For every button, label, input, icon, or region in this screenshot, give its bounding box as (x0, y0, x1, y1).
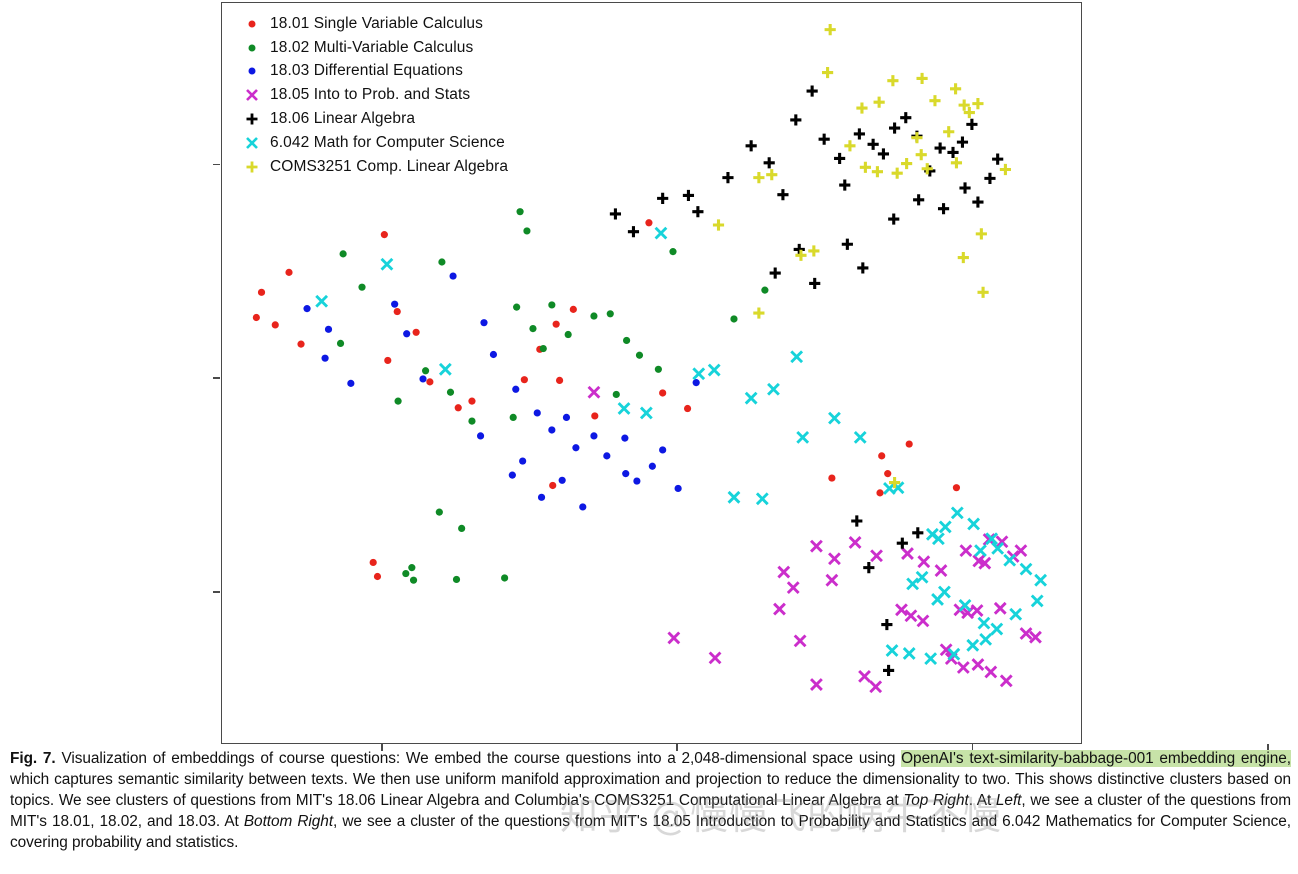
data-point (844, 140, 855, 151)
data-point (501, 574, 508, 581)
plot-legend: 18.01 Single Variable Calculus18.02 Mult… (234, 12, 508, 179)
data-point (878, 148, 889, 159)
caption-segment-0: Visualization of embeddings of course qu… (56, 750, 901, 767)
data-point (453, 576, 460, 583)
data-point (827, 575, 838, 586)
plus-marker-icon (234, 158, 270, 176)
data-point (811, 541, 822, 552)
data-point (883, 665, 894, 676)
data-point (272, 321, 279, 328)
data-point (884, 470, 891, 477)
data-point (863, 562, 874, 573)
data-point (917, 572, 928, 583)
data-point (413, 329, 420, 336)
figure-label: Fig. 7. (10, 750, 56, 767)
data-point (881, 619, 892, 630)
data-point (935, 142, 946, 153)
figure-caption: Fig. 7. Visualization of embeddings of c… (10, 748, 1291, 853)
data-point (958, 252, 969, 263)
data-point (358, 284, 365, 291)
data-point (906, 440, 913, 447)
data-point (519, 457, 526, 464)
data-point (829, 553, 840, 564)
data-point (659, 446, 666, 453)
legend-item-0[interactable]: 18.01 Single Variable Calculus (234, 12, 508, 36)
data-point (746, 140, 757, 151)
data-point (1001, 675, 1012, 686)
data-point (842, 239, 853, 250)
data-point (764, 157, 775, 168)
data-point (553, 321, 560, 328)
data-point (859, 671, 870, 682)
data-point (607, 310, 614, 317)
data-point (951, 157, 962, 168)
data-point (912, 527, 923, 538)
figure-caption-body: Visualization of embeddings of course qu… (10, 750, 1291, 851)
data-point (961, 545, 972, 556)
data-point (656, 228, 667, 239)
data-point (939, 587, 950, 598)
data-point (382, 259, 393, 270)
data-point (768, 384, 779, 395)
data-point (770, 268, 781, 279)
data-point (746, 393, 757, 404)
y-axis-tick-0 (213, 591, 220, 592)
data-point (422, 367, 429, 374)
data-point (622, 470, 629, 477)
data-point (856, 102, 867, 113)
data-point (839, 179, 850, 190)
data-point (591, 412, 598, 419)
caption-segment-4: . At (969, 792, 996, 809)
data-point (825, 24, 836, 35)
data-point (458, 525, 465, 532)
data-point (436, 509, 443, 516)
data-point (449, 272, 456, 279)
y-axis-tick-1 (213, 377, 220, 378)
data-point (340, 250, 347, 257)
data-point (570, 306, 577, 313)
data-point (876, 489, 883, 496)
x-marker-icon (234, 134, 270, 152)
data-point (529, 325, 536, 332)
data-point (381, 231, 388, 238)
data-point (868, 139, 879, 150)
data-point (952, 507, 963, 518)
data-point (521, 376, 528, 383)
legend-label-4: 18.06 Linear Algebra (270, 110, 415, 128)
data-point (419, 375, 426, 382)
data-point (953, 484, 960, 491)
circle-marker-icon (234, 39, 270, 57)
data-point (889, 122, 900, 133)
data-point (985, 667, 996, 678)
data-point (722, 172, 733, 183)
data-point (967, 640, 978, 651)
data-point (753, 172, 764, 183)
data-point (641, 408, 652, 419)
data-point (538, 494, 545, 501)
data-point (947, 147, 958, 158)
data-point (610, 208, 621, 219)
data-point (509, 472, 516, 479)
data-point (613, 391, 620, 398)
data-point (995, 603, 1006, 614)
data-point (943, 126, 954, 137)
data-point (753, 307, 764, 318)
data-point (1032, 596, 1043, 607)
data-point (1035, 575, 1046, 586)
data-point (913, 194, 924, 205)
data-point (410, 577, 417, 584)
data-point (984, 173, 995, 184)
data-point (374, 573, 381, 580)
data-point (878, 452, 885, 459)
data-point (888, 213, 899, 224)
legend-item-2[interactable]: 18.03 Differential Equations (234, 60, 508, 84)
data-point (966, 119, 977, 130)
data-point (972, 98, 983, 109)
data-point (303, 305, 310, 312)
data-point (887, 75, 898, 86)
data-point (807, 85, 818, 96)
data-point (925, 653, 936, 664)
data-point (590, 312, 597, 319)
data-point (563, 414, 570, 421)
data-point (408, 564, 415, 571)
data-point (907, 579, 918, 590)
data-point (590, 432, 597, 439)
data-point (940, 522, 951, 533)
data-point (513, 304, 520, 311)
data-point (549, 482, 556, 489)
data-point (933, 533, 944, 544)
legend-item-1[interactable]: 18.02 Multi-Variable Calculus (234, 36, 508, 60)
data-point (777, 189, 788, 200)
x-marker-icon (234, 86, 270, 104)
circle-marker-icon (234, 62, 270, 80)
data-point (929, 95, 940, 106)
data-point (523, 227, 530, 234)
data-point (683, 190, 694, 201)
data-point (325, 326, 332, 333)
data-point (854, 128, 865, 139)
data-point (871, 550, 882, 561)
data-point (1000, 164, 1011, 175)
data-point (778, 567, 789, 578)
data-point (959, 182, 970, 193)
data-point (447, 389, 454, 396)
data-point (297, 341, 304, 348)
data-point (788, 582, 799, 593)
legend-item-5[interactable]: 6.042 Math for Computer Science (234, 131, 508, 155)
data-point (972, 196, 983, 207)
data-point (916, 149, 927, 160)
legend-item-3[interactable]: 18.05 Into to Prob. and Stats (234, 83, 508, 107)
data-point (559, 477, 566, 484)
legend-label-2: 18.03 Differential Equations (270, 62, 463, 80)
data-point (906, 610, 917, 621)
scatter-series-5 (316, 228, 1046, 664)
legend-label-1: 18.02 Multi-Variable Calculus (270, 39, 473, 57)
data-point (851, 515, 862, 526)
data-point (811, 679, 822, 690)
data-point (794, 244, 805, 255)
data-point (795, 635, 806, 646)
data-point (902, 548, 913, 559)
data-point (829, 413, 840, 424)
scatter-series-1 (337, 208, 769, 584)
data-point (872, 166, 883, 177)
caption-segment-3: Top Right (903, 792, 968, 809)
data-point (979, 618, 990, 629)
legend-label-5: 6.042 Math for Computer Science (270, 134, 505, 152)
data-point (636, 352, 643, 359)
data-point (402, 570, 409, 577)
data-point (477, 432, 484, 439)
data-point (916, 73, 927, 84)
data-point (918, 556, 929, 567)
scatter-series-6 (713, 24, 1011, 488)
data-point (510, 414, 517, 421)
data-point (918, 616, 929, 627)
data-point (1004, 555, 1015, 566)
data-point (976, 228, 987, 239)
legend-item-6[interactable]: COMS3251 Comp. Linear Algebra (234, 155, 508, 179)
data-point (822, 67, 833, 78)
caption-segment-1: OpenAI's text-similarity-babbage-001 emb… (901, 750, 1291, 767)
data-point (709, 365, 720, 376)
data-point (603, 452, 610, 459)
data-point (391, 301, 398, 308)
data-point (1021, 564, 1032, 575)
y-axis-tick-2 (213, 164, 220, 165)
data-point (394, 398, 401, 405)
data-point (649, 463, 656, 470)
data-point (669, 248, 676, 255)
data-point (548, 301, 555, 308)
data-point (901, 158, 912, 169)
data-point (911, 132, 922, 143)
data-point (897, 538, 908, 549)
data-point (936, 565, 947, 576)
data-point (253, 314, 260, 321)
data-point (572, 444, 579, 451)
data-point (896, 604, 907, 615)
scatter-series-4 (610, 85, 1003, 676)
data-point (675, 485, 682, 492)
data-point (692, 206, 703, 217)
caption-segment-7: Bottom Right (244, 813, 333, 830)
data-point (321, 355, 328, 362)
data-point (455, 404, 462, 411)
data-point (403, 330, 410, 337)
data-point (589, 387, 600, 398)
data-point (766, 169, 777, 180)
data-point (713, 219, 724, 230)
data-point (384, 357, 391, 364)
data-point (887, 645, 898, 656)
data-point (729, 492, 740, 503)
data-point (579, 503, 586, 510)
legend-item-4[interactable]: 18.06 Linear Algebra (234, 107, 508, 131)
data-point (790, 114, 801, 125)
scatter-series-0 (253, 219, 960, 580)
data-point (657, 193, 668, 204)
data-point (991, 624, 1002, 635)
data-point (534, 409, 541, 416)
data-point (668, 633, 679, 644)
data-point (980, 634, 991, 645)
data-point (468, 418, 475, 425)
data-point (1010, 609, 1021, 620)
legend-label-3: 18.05 Into to Prob. and Stats (270, 86, 470, 104)
figure-root: 18.01 Single Variable Calculus18.02 Mult… (0, 0, 1298, 874)
data-point (684, 405, 691, 412)
data-point (540, 345, 547, 352)
data-point (623, 337, 630, 344)
data-point (693, 379, 700, 386)
data-point (628, 226, 639, 237)
circle-marker-icon (234, 15, 270, 33)
data-point (730, 315, 737, 322)
data-point (850, 537, 861, 548)
data-point (950, 83, 961, 94)
data-point (795, 250, 806, 261)
data-point (490, 351, 497, 358)
data-point (556, 377, 563, 384)
data-point (621, 435, 628, 442)
data-point (857, 262, 868, 273)
data-point (512, 386, 519, 393)
data-point (548, 426, 555, 433)
data-point (855, 432, 866, 443)
scatter-series-2 (303, 272, 699, 510)
data-point (645, 219, 652, 226)
data-point (394, 308, 401, 315)
data-point (968, 519, 979, 530)
data-point (828, 474, 835, 481)
data-point (892, 168, 903, 179)
data-point (633, 477, 640, 484)
data-point (426, 378, 433, 385)
data-point (972, 605, 983, 616)
data-point (468, 398, 475, 405)
data-point (655, 366, 662, 373)
data-point (874, 97, 885, 108)
data-point (285, 269, 292, 276)
data-point (659, 389, 666, 396)
data-point (693, 368, 704, 379)
data-point (808, 245, 819, 256)
data-point (957, 137, 968, 148)
data-point (938, 203, 949, 214)
data-point (958, 662, 969, 673)
legend-label-0: 18.01 Single Variable Calculus (270, 15, 483, 33)
data-point (797, 432, 808, 443)
data-point (258, 289, 265, 296)
data-point (834, 153, 845, 164)
data-point (516, 208, 523, 215)
data-point (347, 380, 354, 387)
data-point (973, 659, 984, 670)
legend-label-6: COMS3251 Comp. Linear Algebra (270, 158, 508, 176)
data-point (565, 331, 572, 338)
data-point (757, 493, 768, 504)
data-point (710, 653, 721, 664)
data-point (992, 154, 1003, 165)
data-point (977, 287, 988, 298)
data-point (370, 559, 377, 566)
data-point (900, 112, 911, 123)
data-point (480, 319, 487, 326)
data-point (975, 545, 986, 556)
data-point (870, 681, 881, 692)
data-point (791, 351, 802, 362)
plus-marker-icon (234, 110, 270, 128)
data-point (774, 604, 785, 615)
data-point (819, 134, 830, 145)
data-point (316, 296, 327, 307)
data-point (809, 278, 820, 289)
data-point (337, 340, 344, 347)
data-point (761, 287, 768, 294)
data-point (904, 648, 915, 659)
data-point (619, 403, 630, 414)
caption-segment-5: Left (996, 792, 1021, 809)
data-point (860, 162, 871, 173)
data-point (440, 364, 451, 375)
data-point (438, 258, 445, 265)
